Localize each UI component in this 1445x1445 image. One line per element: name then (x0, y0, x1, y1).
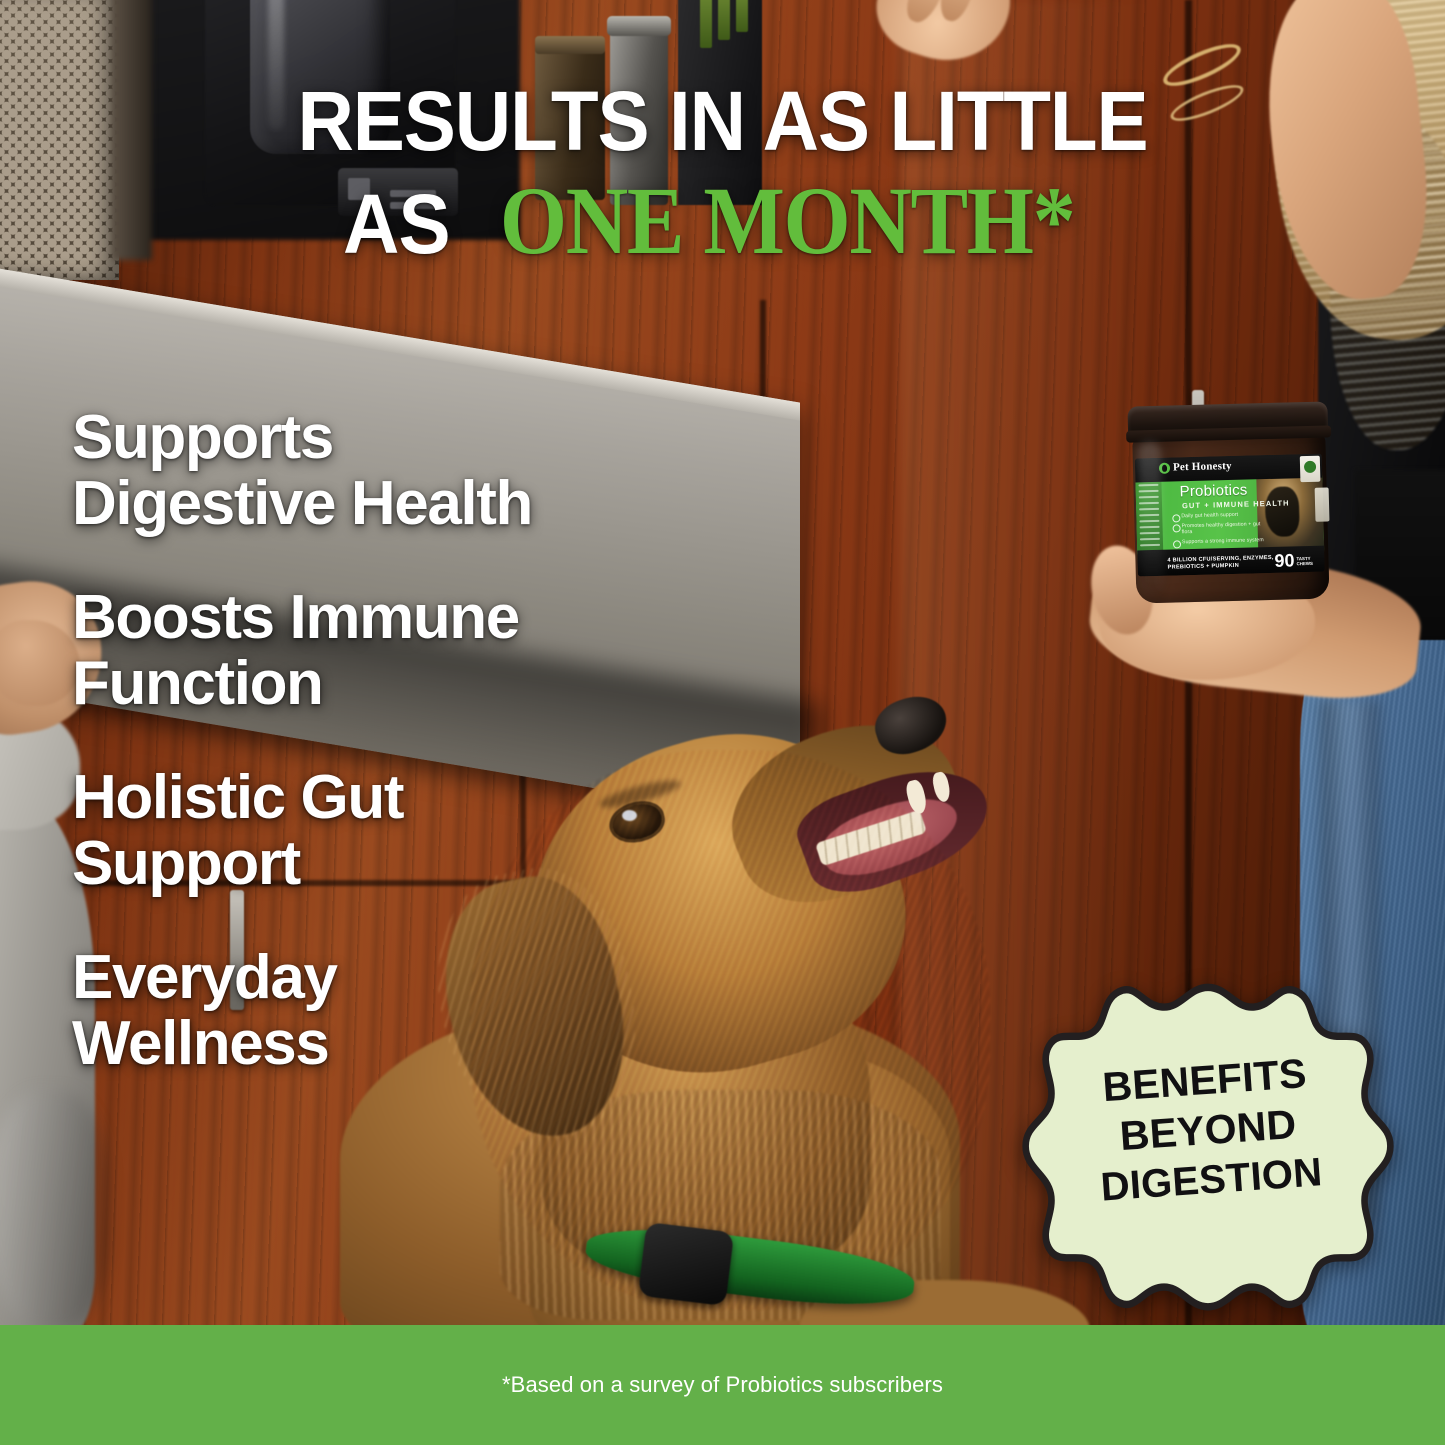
coffee-maker-button (348, 178, 370, 200)
sweatpants-fold (0, 1090, 110, 1330)
jar-side-sticker (1315, 487, 1330, 521)
label-product-title: Probiotics (1179, 482, 1247, 501)
benefits-beyond-digestion-badge: BENEFITS BEYOND DIGESTION (1012, 936, 1404, 1324)
footer-disclaimer: *Based on a survey of Probiotics subscri… (502, 1372, 943, 1398)
benefit-item-holistic-gut-support: Holistic Gut Support (72, 765, 692, 897)
label-claim-text: 4 BILLION CFU/SERVING, ENZYMES, PREBIOTI… (1167, 555, 1277, 572)
label-count: 90 (1274, 550, 1295, 571)
jar-gloss-highlight (1138, 442, 1164, 593)
label-bullet-list: Daily gut health support Promotes health… (1172, 511, 1273, 549)
label-brand-name: Pet Honesty (1173, 460, 1232, 474)
label-count-sublabel: TASTY CHEWS (1296, 556, 1320, 567)
carafe-highlight (268, 0, 284, 130)
benefit-item-digestive-health: Supports Digestive Health (72, 405, 692, 537)
product-marketing-image: Pet Honesty Probiotics GUT + IMMUNE HEAL… (0, 0, 1445, 1445)
penny-tile-backsplash (0, 0, 119, 280)
knife-handle (718, 0, 730, 40)
label-natural-seal-icon (1300, 456, 1321, 483)
label-bullet: Daily gut health support (1172, 511, 1272, 520)
label-bullet: Promotes healthy digestion + gut flora (1172, 521, 1272, 536)
kitchen-canister (610, 30, 668, 205)
badge-text-block: BENEFITS BEYOND DIGESTION (999, 923, 1417, 1337)
dog-collar-buckle (638, 1222, 734, 1306)
label-bullet: Supports a strong immune system (1173, 537, 1273, 546)
benefit-list: Supports Digestive Health Boosts Immune … (72, 405, 692, 1077)
knife-handle (736, 0, 748, 32)
knife-handle (700, 0, 712, 48)
coffee-maker-button (390, 190, 436, 197)
kitchen-canister (535, 48, 605, 200)
footer-bar: *Based on a survey of Probiotics subscri… (0, 1325, 1445, 1445)
coffee-maker-button (390, 202, 436, 209)
benefit-item-everyday-wellness: Everyday Wellness (72, 945, 692, 1077)
benefit-item-immune-function: Boosts Immune Function (72, 585, 692, 717)
product-jar: Pet Honesty Probiotics GUT + IMMUNE HEAL… (1125, 401, 1335, 606)
backsplash-shadow (112, 0, 152, 260)
